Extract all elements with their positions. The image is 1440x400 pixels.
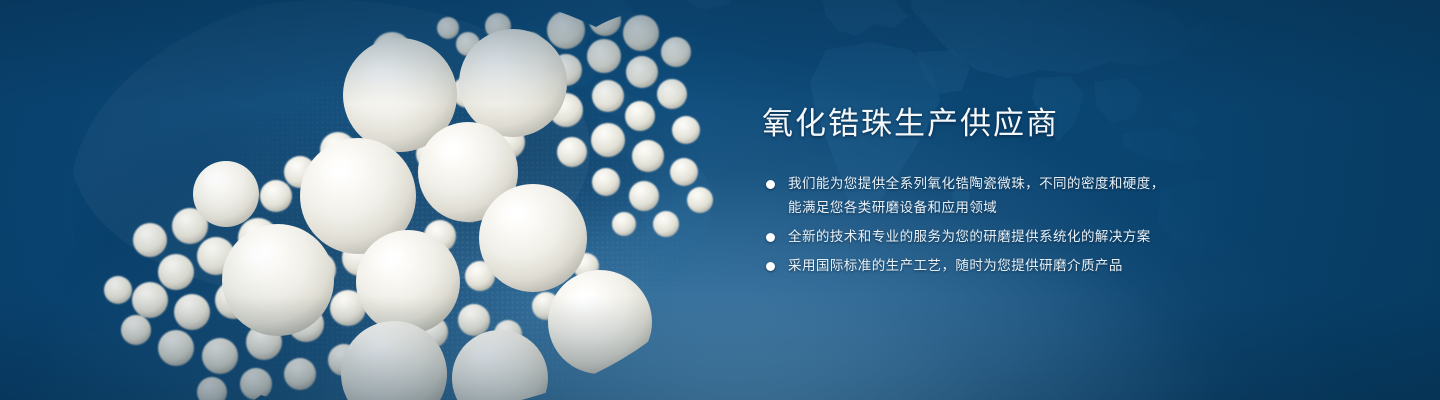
- bullet-line: 全新的技术和专业的服务为您的研磨提供系统化的解决方案: [788, 225, 1382, 249]
- bullet-line: 能满足您各类研磨设备和应用领域: [788, 196, 1382, 220]
- bullet-dot-icon: [766, 233, 775, 242]
- hero-banner: 氧化锆珠生产供应商 我们能为您提供全系列氧化锆陶瓷微珠，不同的密度和硬度， 能满…: [0, 0, 1440, 400]
- banner-copy: 氧化锆珠生产供应商 我们能为您提供全系列氧化锆陶瓷微珠，不同的密度和硬度， 能满…: [762, 104, 1382, 278]
- list-item: 采用国际标准的生产工艺，随时为您提供研磨介质产品: [762, 254, 1382, 278]
- bullet-line: 采用国际标准的生产工艺，随时为您提供研磨介质产品: [788, 254, 1382, 278]
- list-item: 我们能为您提供全系列氧化锆陶瓷微珠，不同的密度和硬度， 能满足您各类研磨设备和应…: [762, 172, 1382, 220]
- banner-feature-list: 我们能为您提供全系列氧化锆陶瓷微珠，不同的密度和硬度， 能满足您各类研磨设备和应…: [762, 172, 1382, 278]
- list-item: 全新的技术和专业的服务为您的研磨提供系统化的解决方案: [762, 225, 1382, 249]
- bullet-line: 我们能为您提供全系列氧化锆陶瓷微珠，不同的密度和硬度，: [788, 172, 1382, 196]
- banner-headline: 氧化锆珠生产供应商: [762, 104, 1382, 144]
- bullet-dot-icon: [766, 262, 775, 271]
- bullet-dot-icon: [766, 180, 775, 189]
